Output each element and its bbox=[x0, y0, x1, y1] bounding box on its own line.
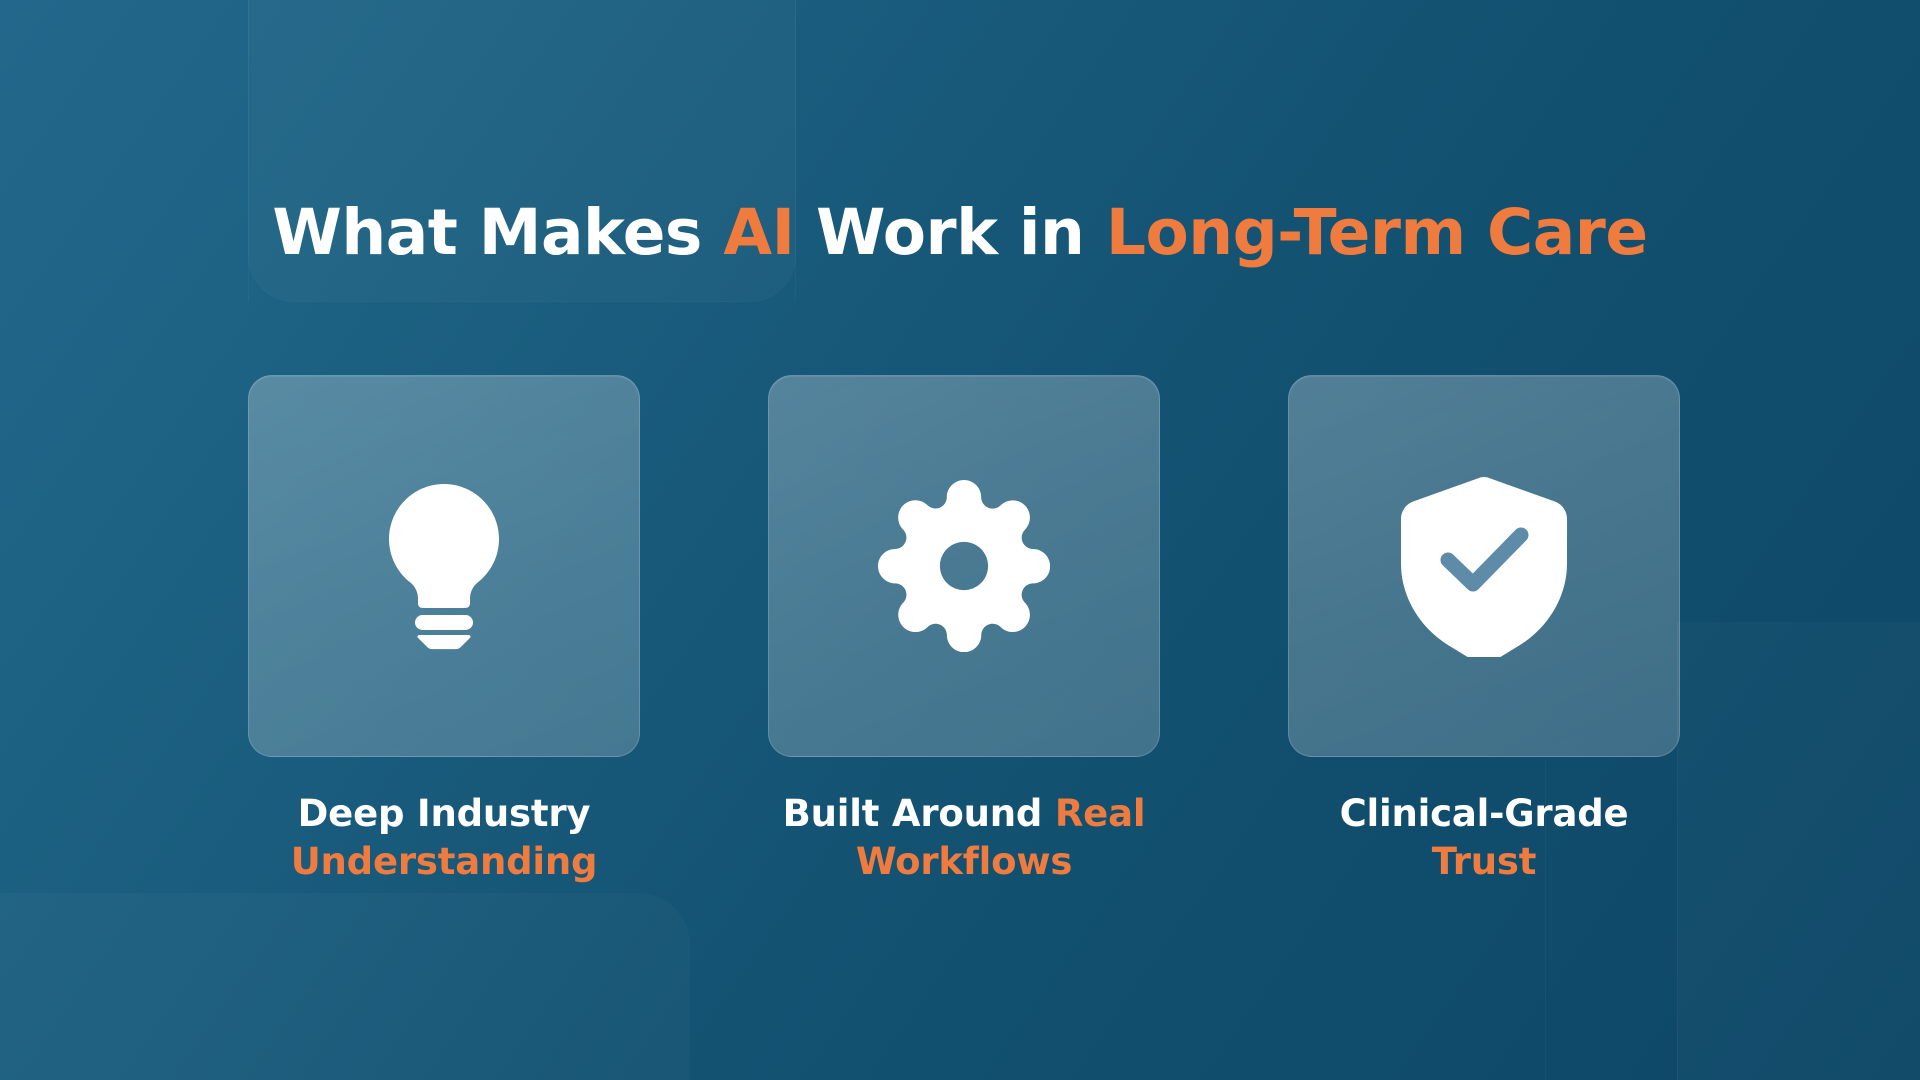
feature-label-deep-industry-understanding: Deep Industry Understanding bbox=[248, 790, 640, 886]
feature-label-row: Deep Industry Understanding Built Around… bbox=[248, 790, 1680, 886]
deco-panel-bottom-left bbox=[0, 893, 690, 1080]
title-part-1: What Makes bbox=[272, 196, 723, 269]
label-line-2: Understanding bbox=[248, 838, 640, 886]
feature-card-row bbox=[248, 375, 1680, 757]
gear-icon bbox=[878, 480, 1050, 652]
deco-panel-bottom-right bbox=[1677, 622, 1920, 1080]
label-line-1: Clinical-Grade bbox=[1288, 790, 1680, 838]
title-accent-ai: AI bbox=[723, 196, 794, 269]
label-line-2: Workflows bbox=[768, 838, 1160, 886]
label-line-1: Deep Industry bbox=[248, 790, 640, 838]
feature-label-clinical-grade-trust: Clinical-Grade Trust bbox=[1288, 790, 1680, 886]
label-line-1-text: Built Around bbox=[783, 792, 1055, 835]
feature-card-clinical-grade-trust[interactable] bbox=[1288, 375, 1680, 757]
feature-card-built-around-real-workflows[interactable] bbox=[768, 375, 1160, 757]
feature-card-deep-industry-understanding[interactable] bbox=[248, 375, 640, 757]
feature-label-built-around-real-workflows: Built Around Real Workflows bbox=[768, 790, 1160, 886]
label-line-1-accent: Real bbox=[1055, 792, 1145, 835]
title-accent-long-term-care: Long-Term Care bbox=[1106, 196, 1648, 269]
lightbulb-icon bbox=[373, 482, 515, 650]
slide-canvas: What Makes AI Work in Long-Term Care D bbox=[0, 0, 1920, 1080]
title-part-3: Work in bbox=[795, 196, 1106, 269]
shield-check-icon bbox=[1400, 475, 1568, 657]
label-line-1: Built Around Real bbox=[768, 790, 1160, 838]
page-title: What Makes AI Work in Long-Term Care bbox=[0, 199, 1920, 267]
label-line-2: Trust bbox=[1288, 838, 1680, 886]
